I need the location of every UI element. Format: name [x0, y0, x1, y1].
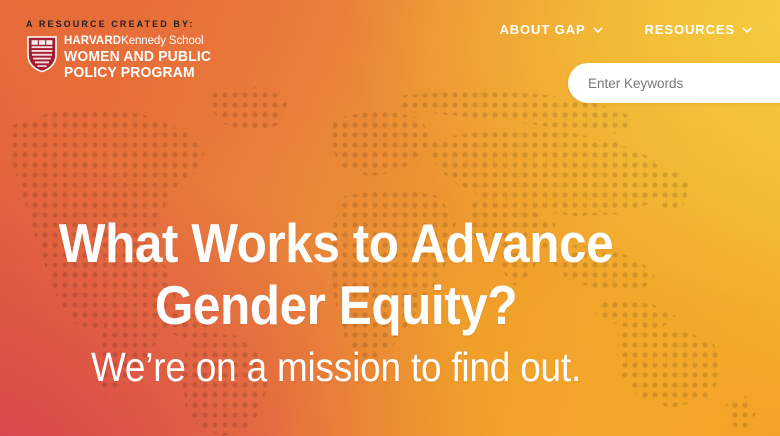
chevron-down-icon: [593, 25, 603, 35]
search-input[interactable]: [568, 63, 780, 103]
nav-item-about-gap[interactable]: ABOUT GAP: [499, 22, 602, 37]
hero-headline-block: What Works to Advance Gender Equity? We’…: [0, 212, 672, 390]
program-name-line1: WOMEN AND PUBLIC: [64, 50, 211, 66]
nav-item-resources-label: RESOURCES: [645, 22, 735, 37]
program-name-line2: POLICY PROGRAM: [64, 66, 211, 82]
eyebrow-text: A RESOURCE CREATED BY:: [26, 18, 217, 30]
headline-line-2: Gender Equity?: [34, 274, 639, 336]
school-name-light: Kennedy School: [121, 35, 203, 47]
brand-lockup[interactable]: A RESOURCE CREATED BY:: [26, 18, 217, 81]
headline-line-1: What Works to Advance: [34, 212, 639, 274]
school-name: HARVARDKennedy School: [64, 35, 217, 48]
school-name-bold: HARVARD: [64, 35, 121, 47]
nav-item-about-gap-label: ABOUT GAP: [499, 22, 585, 37]
program-name: WOMEN AND PUBLIC POLICY PROGRAM: [64, 50, 211, 81]
hero-subheadline: We’re on a mission to find out.: [34, 344, 639, 390]
chevron-down-icon: [742, 25, 752, 35]
nav-item-resources[interactable]: RESOURCES: [645, 22, 752, 37]
search-box[interactable]: [568, 63, 780, 103]
hero-banner: A RESOURCE CREATED BY:: [0, 0, 780, 436]
site-header: A RESOURCE CREATED BY:: [0, 0, 780, 118]
harvard-shield-icon: [26, 35, 58, 73]
primary-navigation: ABOUT GAP RESOURCES: [499, 22, 752, 37]
wordmark: HARVARDKennedy School WOMEN AND PUBLIC P…: [64, 34, 217, 81]
